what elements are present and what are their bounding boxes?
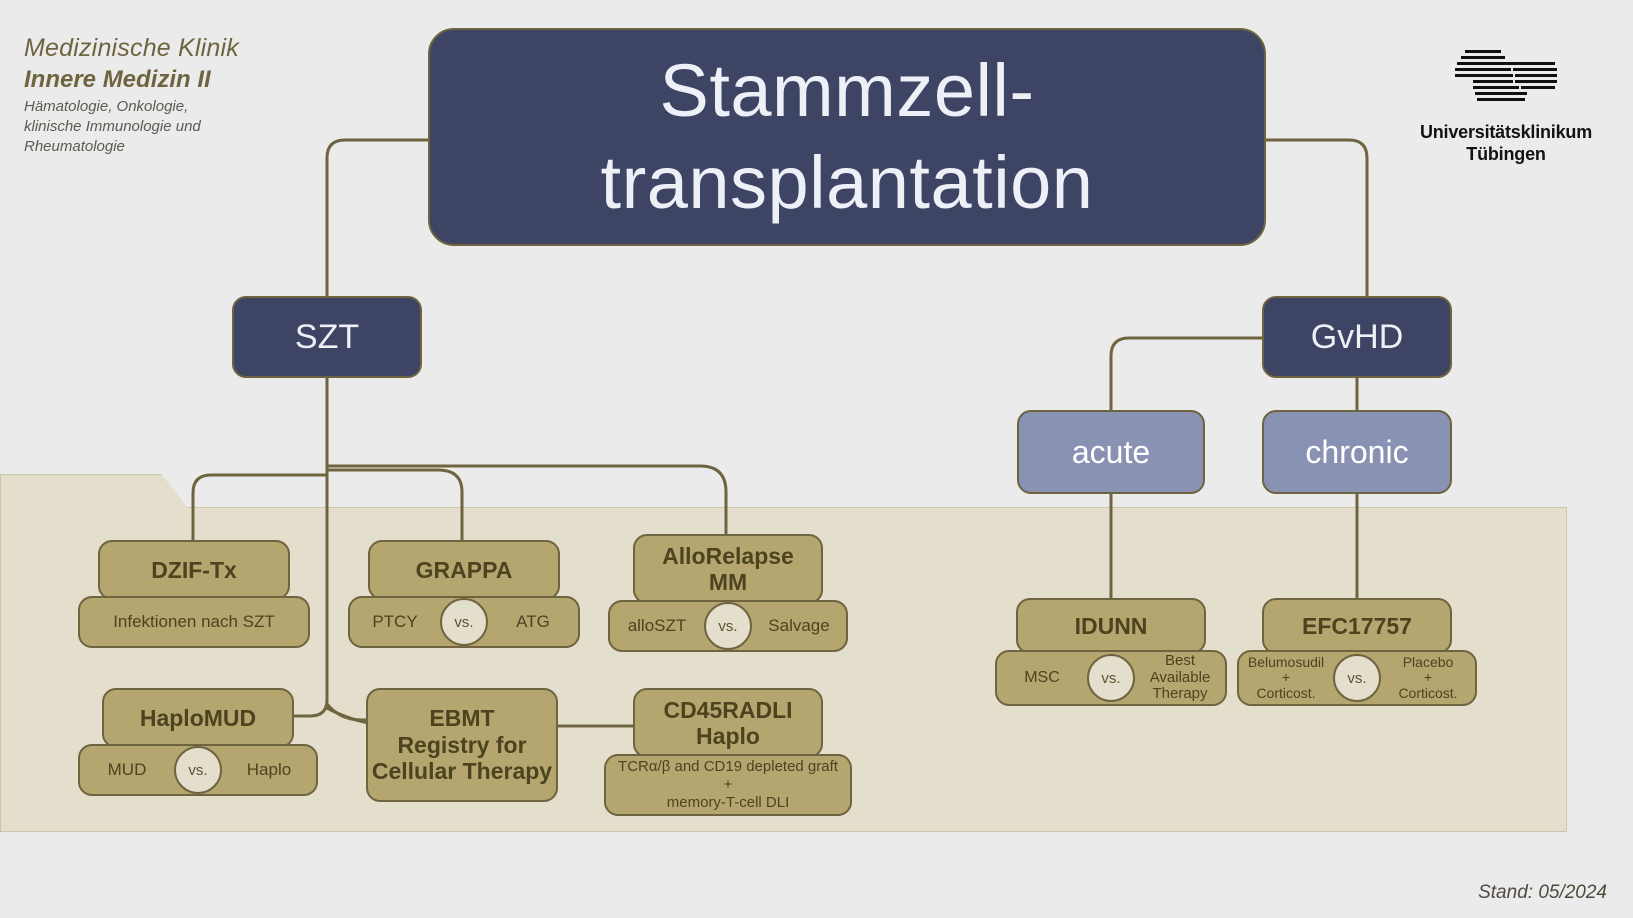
comparison-right: Best Available Therapy bbox=[1135, 653, 1225, 703]
branch-node-acute[interactable]: acute bbox=[1017, 410, 1205, 494]
study-title: HaploMUD bbox=[102, 688, 294, 748]
vs-badge: vs. bbox=[704, 602, 752, 650]
logo-name-line1: Universitätsklinikum bbox=[1411, 122, 1601, 144]
study-comparison: MUD vs. Haplo bbox=[78, 744, 318, 796]
comparison-left: MSC bbox=[997, 669, 1087, 687]
department-line: Innere Medizin II bbox=[24, 65, 324, 95]
vs-badge: vs. bbox=[440, 598, 488, 646]
specialties-line: Hämatologie, Onkologie, klinische Immuno… bbox=[24, 97, 324, 158]
revision-date: Stand: 05/2024 bbox=[1478, 882, 1607, 904]
branch-node-szt[interactable]: SZT bbox=[232, 296, 422, 378]
comparison-right: Salvage bbox=[752, 616, 846, 635]
clinic-line: Medizinische Klinik bbox=[24, 34, 324, 63]
study-comparison: PTCY vs. ATG bbox=[348, 596, 580, 648]
study-comparison: alloSZT vs. Salvage bbox=[608, 600, 848, 652]
comparison-left: PTCY bbox=[350, 612, 440, 631]
branch-node-chronic[interactable]: chronic bbox=[1262, 410, 1452, 494]
study-detail: TCRα/β and CD19 depleted graft + memory-… bbox=[604, 754, 852, 816]
logo-name-line2: Tübingen bbox=[1411, 144, 1601, 166]
study-title: AlloRelapse MM bbox=[633, 534, 823, 604]
vs-badge: vs. bbox=[1087, 654, 1135, 702]
study-detail: Infektionen nach SZT bbox=[78, 596, 310, 648]
main-title-node[interactable]: Stammzell- transplantation bbox=[428, 28, 1266, 246]
study-comparison: MSC vs. Best Available Therapy bbox=[995, 650, 1227, 706]
uniklinik-tuebingen-striped-mark bbox=[1447, 48, 1565, 110]
comparison-right: ATG bbox=[488, 612, 578, 631]
diagram-canvas: Medizinische Klinik Innere Medizin II Hä… bbox=[0, 0, 1633, 918]
department-header: Medizinische Klinik Innere Medizin II Hä… bbox=[24, 34, 324, 158]
university-logo: Universitätsklinikum Tübingen bbox=[1411, 48, 1601, 165]
study-title: GRAPPA bbox=[368, 540, 560, 600]
vs-badge: vs. bbox=[1333, 654, 1381, 702]
study-title: EFC17757 bbox=[1262, 598, 1452, 654]
study-title: EBMT Registry for Cellular Therapy bbox=[366, 688, 558, 802]
comparison-left: MUD bbox=[80, 760, 174, 779]
comparison-left: Belumosudil + Corticost. bbox=[1239, 655, 1333, 701]
vs-badge: vs. bbox=[174, 746, 222, 794]
comparison-right: Haplo bbox=[222, 760, 316, 779]
study-title: CD45RADLI Haplo bbox=[633, 688, 823, 758]
study-title: IDUNN bbox=[1016, 598, 1206, 654]
study-title: DZIF-Tx bbox=[98, 540, 290, 600]
comparison-right: Placebo + Corticost. bbox=[1381, 655, 1475, 701]
comparison-left: alloSZT bbox=[610, 616, 704, 635]
branch-node-gvhd[interactable]: GvHD bbox=[1262, 296, 1452, 378]
study-comparison: Belumosudil + Corticost. vs. Placebo + C… bbox=[1237, 650, 1477, 706]
